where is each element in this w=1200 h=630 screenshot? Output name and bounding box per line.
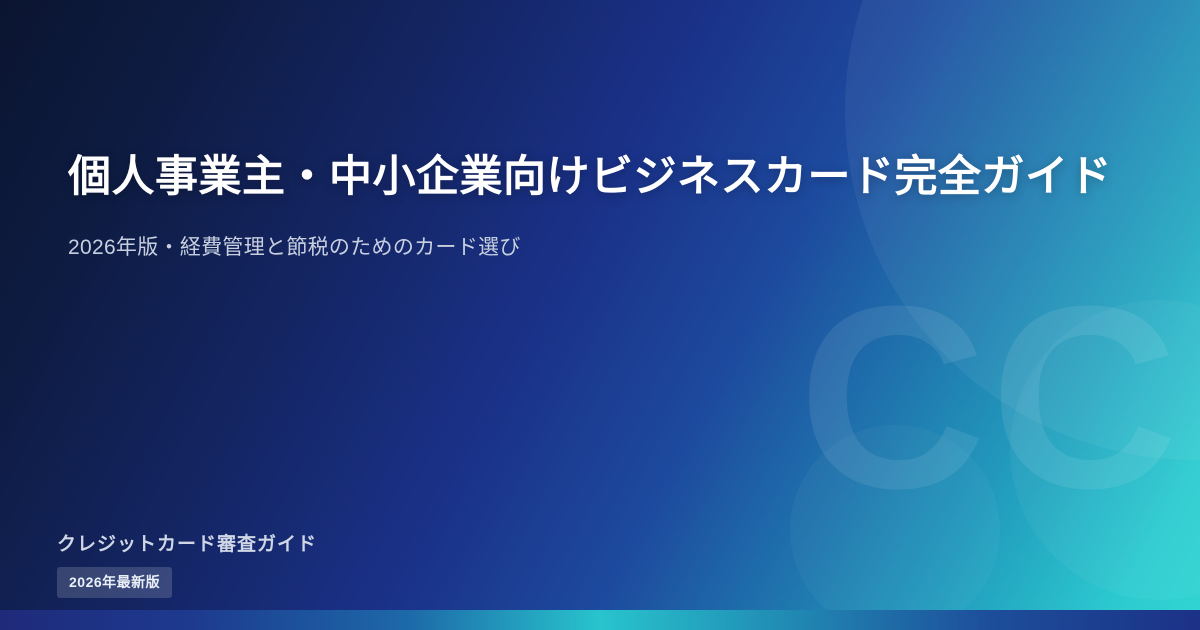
- cc-watermark-text: CC: [798, 268, 1182, 528]
- brand-block: クレジットカード審査ガイド 2026年最新版: [57, 529, 317, 598]
- headline-block: 個人事業主・中小企業向けビジネスカード完全ガイド 2026年版・経費管理と節税の…: [68, 150, 1140, 263]
- page-title: 個人事業主・中小企業向けビジネスカード完全ガイド: [68, 150, 1140, 206]
- edition-badge: 2026年最新版: [57, 567, 172, 598]
- og-image-card: CC 個人事業主・中小企業向けビジネスカード完全ガイド 2026年版・経費管理と…: [0, 0, 1200, 630]
- bottom-accent-bar: [0, 610, 1200, 630]
- site-name: クレジットカード審査ガイド: [57, 529, 317, 556]
- page-subtitle: 2026年版・経費管理と節税のためのカード選び: [68, 232, 1140, 264]
